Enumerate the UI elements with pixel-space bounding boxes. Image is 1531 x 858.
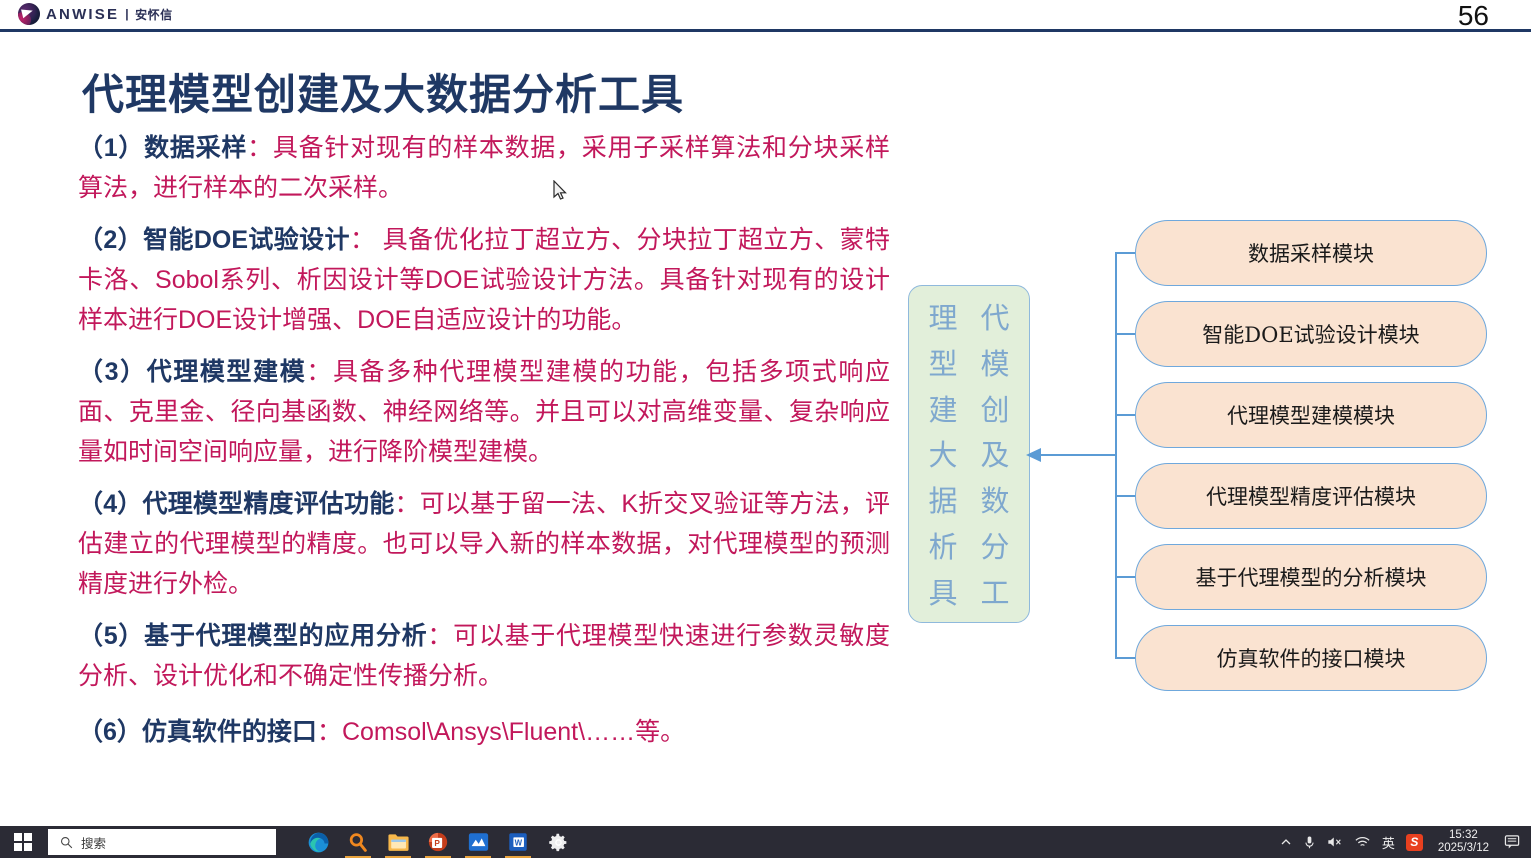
bullet-number: （3） <box>78 358 147 386</box>
search-magnifier-icon <box>348 832 369 853</box>
connector-stub <box>1115 576 1136 578</box>
start-button[interactable] <box>0 826 46 858</box>
connector-arrow-head-icon <box>1026 448 1041 462</box>
bullet-colon: ： <box>247 134 273 162</box>
bullet-paragraph: （1）数据采样：具备针对现有的样本数据，采用子采样算法和分块采样算法，进行样本的… <box>78 128 890 208</box>
sogou-letter: S <box>1410 835 1418 849</box>
header-divider <box>0 29 1531 32</box>
bullet-number: （2） <box>78 226 143 254</box>
root-char: 具 <box>928 579 957 608</box>
chart-app-icon <box>467 831 490 853</box>
bullet-body: Comsol\Ansys\Fluent\……等。 <box>342 718 685 746</box>
powerpoint-icon: P <box>427 831 449 853</box>
slide-header: ANWISE | 安怀信 56 <box>0 0 1531 29</box>
bullet-colon: ： <box>395 490 420 518</box>
ime-language-indicator[interactable]: 英 <box>1382 833 1395 852</box>
slide-canvas: ANWISE | 安怀信 56 代理模型创建及大数据分析工具 （1）数据采样：具… <box>0 0 1531 820</box>
word-icon: W <box>507 831 529 853</box>
bullet-lead: 数据采样 <box>144 134 247 162</box>
wifi-icon[interactable] <box>1354 835 1371 849</box>
connector-stub <box>1115 657 1136 659</box>
root-char: 据 <box>928 487 957 516</box>
volume-muted-icon[interactable] <box>1327 835 1343 849</box>
show-hidden-icons-chevron-icon[interactable] <box>1280 836 1292 848</box>
bullet-lead: 基于代理模型的应用分析 <box>144 622 427 650</box>
root-char: 创 <box>980 396 1009 425</box>
connector-stub <box>1115 333 1136 335</box>
taskbar-item-search[interactable] <box>338 826 378 858</box>
bullet-colon: ： <box>306 358 333 386</box>
bullet-paragraph: （2）智能DOE试验设计： 具备优化拉丁超立方、分块拉丁超立方、蒙特卡洛、Sob… <box>78 220 890 340</box>
edge-icon <box>307 831 330 854</box>
module-box: 数据采样模块 <box>1135 220 1487 286</box>
taskbar-item-edge[interactable] <box>298 826 338 858</box>
connector-stub <box>1115 252 1136 254</box>
bullet-lead: 仿真软件的接口 <box>142 718 317 746</box>
diagram-root-column-right: 代 模 创 及 数 分 工 <box>970 296 1020 616</box>
settings-gear-icon <box>548 832 569 853</box>
svg-text:W: W <box>515 838 523 847</box>
taskbar-item-settings[interactable] <box>538 826 578 858</box>
bullet-lead: 代理模型建模 <box>147 358 307 386</box>
bullet-number: （1） <box>78 134 144 162</box>
bullet-number: （6） <box>78 718 142 746</box>
screen: ANWISE | 安怀信 56 代理模型创建及大数据分析工具 （1）数据采样：具… <box>0 0 1531 858</box>
taskbar-clock[interactable]: 15:32 2025/3/12 <box>1438 829 1489 855</box>
root-char: 模 <box>980 350 1009 379</box>
root-char: 析 <box>928 533 957 562</box>
connector-stub <box>1115 414 1136 416</box>
logo-chinese-name: 安怀信 <box>135 6 173 23</box>
diagram-root-column-left: 理 型 建 大 据 析 具 <box>918 296 968 616</box>
root-char: 建 <box>928 396 957 425</box>
anwise-logo-mark-icon <box>18 3 40 25</box>
root-char: 分 <box>980 533 1009 562</box>
taskbar-item-powerpoint[interactable]: P <box>418 826 458 858</box>
module-box: 基于代理模型的分析模块 <box>1135 544 1487 610</box>
logo-text: ANWISE <box>46 6 119 23</box>
taskbar-app-icons: P W <box>298 826 578 858</box>
taskbar-item-chart-app[interactable] <box>458 826 498 858</box>
notification-center-icon[interactable] <box>1504 834 1521 850</box>
module-box: 智能DOE试验设计模块 <box>1135 301 1487 367</box>
bullet-paragraph: （3）代理模型建模：具备多种代理模型建模的功能，包括多项式响应面、克里金、径向基… <box>78 352 890 472</box>
bullet-paragraph: （5）基于代理模型的应用分析：可以基于代理模型快速进行参数灵敏度分析、设计优化和… <box>78 616 890 696</box>
module-box: 仿真软件的接口模块 <box>1135 625 1487 691</box>
clock-date: 2025/3/12 <box>1438 842 1489 855</box>
diagram-root-vertical-text: 代 模 创 及 数 分 工 理 型 建 大 据 析 <box>918 290 1020 622</box>
root-char: 代 <box>980 304 1009 333</box>
root-char: 型 <box>928 350 957 379</box>
bullet-number: （4） <box>78 490 143 518</box>
microphone-icon[interactable] <box>1303 835 1316 850</box>
bullet-number: （5） <box>78 622 144 650</box>
root-char: 及 <box>980 441 1009 470</box>
root-char: 大 <box>928 441 957 470</box>
body-content: （1）数据采样：具备针对现有的样本数据，采用子采样算法和分块采样算法，进行样本的… <box>78 128 890 764</box>
bullet-colon: ： <box>427 622 453 650</box>
search-icon <box>60 836 73 849</box>
bullet-colon: ： <box>317 718 342 746</box>
diagram-root-node: 代 模 创 及 数 分 工 理 型 建 大 据 析 <box>908 285 1030 623</box>
taskbar-search-input[interactable]: 搜索 <box>48 829 276 855</box>
module-architecture-diagram: 代 模 创 及 数 分 工 理 型 建 大 据 析 <box>900 205 1520 705</box>
root-char: 理 <box>928 304 957 333</box>
module-box: 代理模型建模模块 <box>1135 382 1487 448</box>
module-box: 代理模型精度评估模块 <box>1135 463 1487 529</box>
page-number: 56 <box>1458 0 1489 32</box>
file-explorer-icon <box>387 832 410 853</box>
bullet-paragraph: （6）仿真软件的接口：Comsol\Ansys\Fluent\……等。 <box>78 712 890 752</box>
page-title: 代理模型创建及大数据分析工具 <box>82 61 684 122</box>
windows-taskbar[interactable]: 搜索 <box>0 826 1531 858</box>
anwise-logo: ANWISE | 安怀信 <box>18 3 173 25</box>
bullet-lead: 智能DOE试验设计 <box>143 226 350 254</box>
taskbar-item-word[interactable]: W <box>498 826 538 858</box>
logo-divider: | <box>125 7 129 21</box>
root-char: 工 <box>980 579 1009 608</box>
search-placeholder-text: 搜索 <box>81 833 106 852</box>
bullet-paragraph: （4）代理模型精度评估功能：可以基于留一法、K折交叉验证等方法，评估建立的代理模… <box>78 484 890 604</box>
connector-arrow-line <box>1040 454 1116 456</box>
bullet-colon: ： <box>350 226 375 254</box>
clock-time: 15:32 <box>1449 829 1478 842</box>
system-tray: 英 S 15:32 2025/3/12 <box>1280 826 1531 858</box>
bullet-lead: 代理模型精度评估功能 <box>143 490 395 518</box>
taskbar-item-file-explorer[interactable] <box>378 826 418 858</box>
windows-logo-icon <box>14 833 32 851</box>
svg-text:P: P <box>434 839 440 848</box>
connector-stub <box>1115 495 1136 497</box>
sogou-input-icon[interactable]: S <box>1406 834 1423 851</box>
root-char: 数 <box>980 487 1009 516</box>
